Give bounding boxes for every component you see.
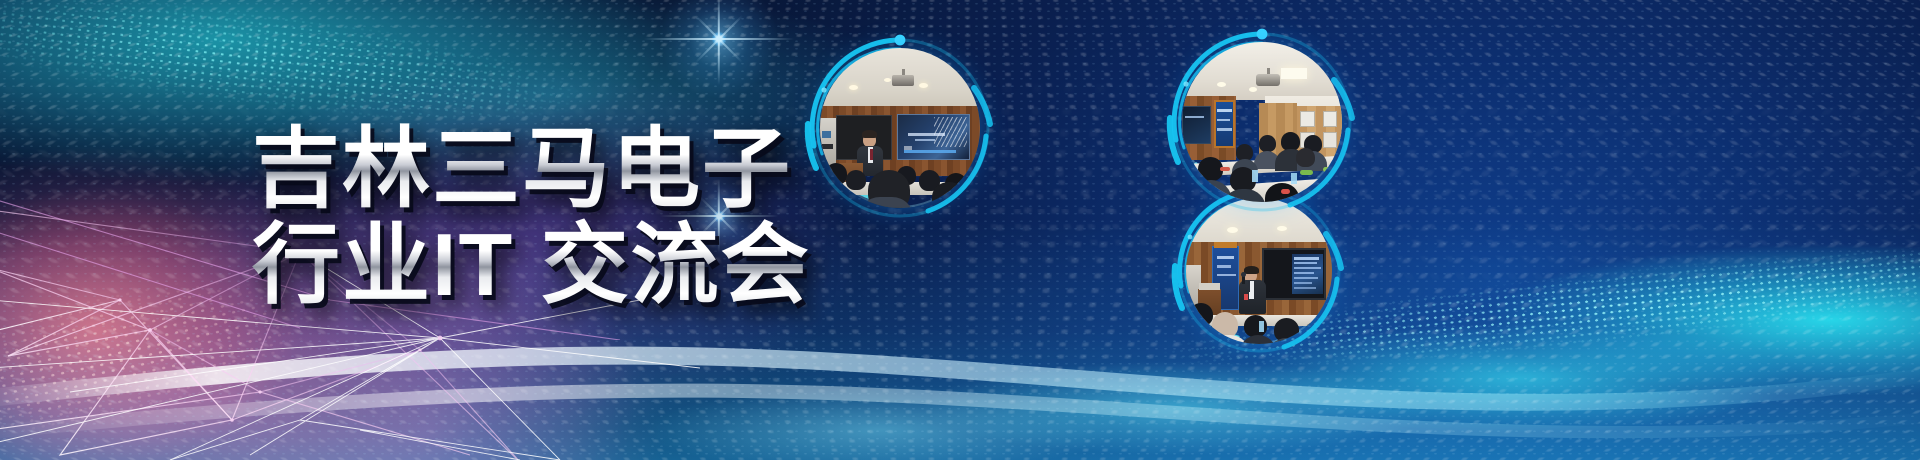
photo-conference-presenter [800, 28, 1000, 228]
photo-disc-1 [820, 48, 980, 208]
banner-headline: 吉林三马电子 行业IT 交流会 [252, 118, 812, 316]
photo-disc-3 [1182, 42, 1342, 202]
headline-line-2: 行业IT 交流会 [252, 214, 812, 316]
ring-node-dot [895, 35, 906, 46]
ring-node-dot [1257, 29, 1268, 40]
headline-line-1: 吉林三马电子 [252, 118, 812, 220]
scene-conference-presenter [820, 48, 980, 208]
event-banner: 吉林三马电子 行业IT 交流会 [0, 0, 1920, 460]
scene-training-attendees [1182, 42, 1342, 202]
photo-training-attendees [1162, 22, 1362, 222]
